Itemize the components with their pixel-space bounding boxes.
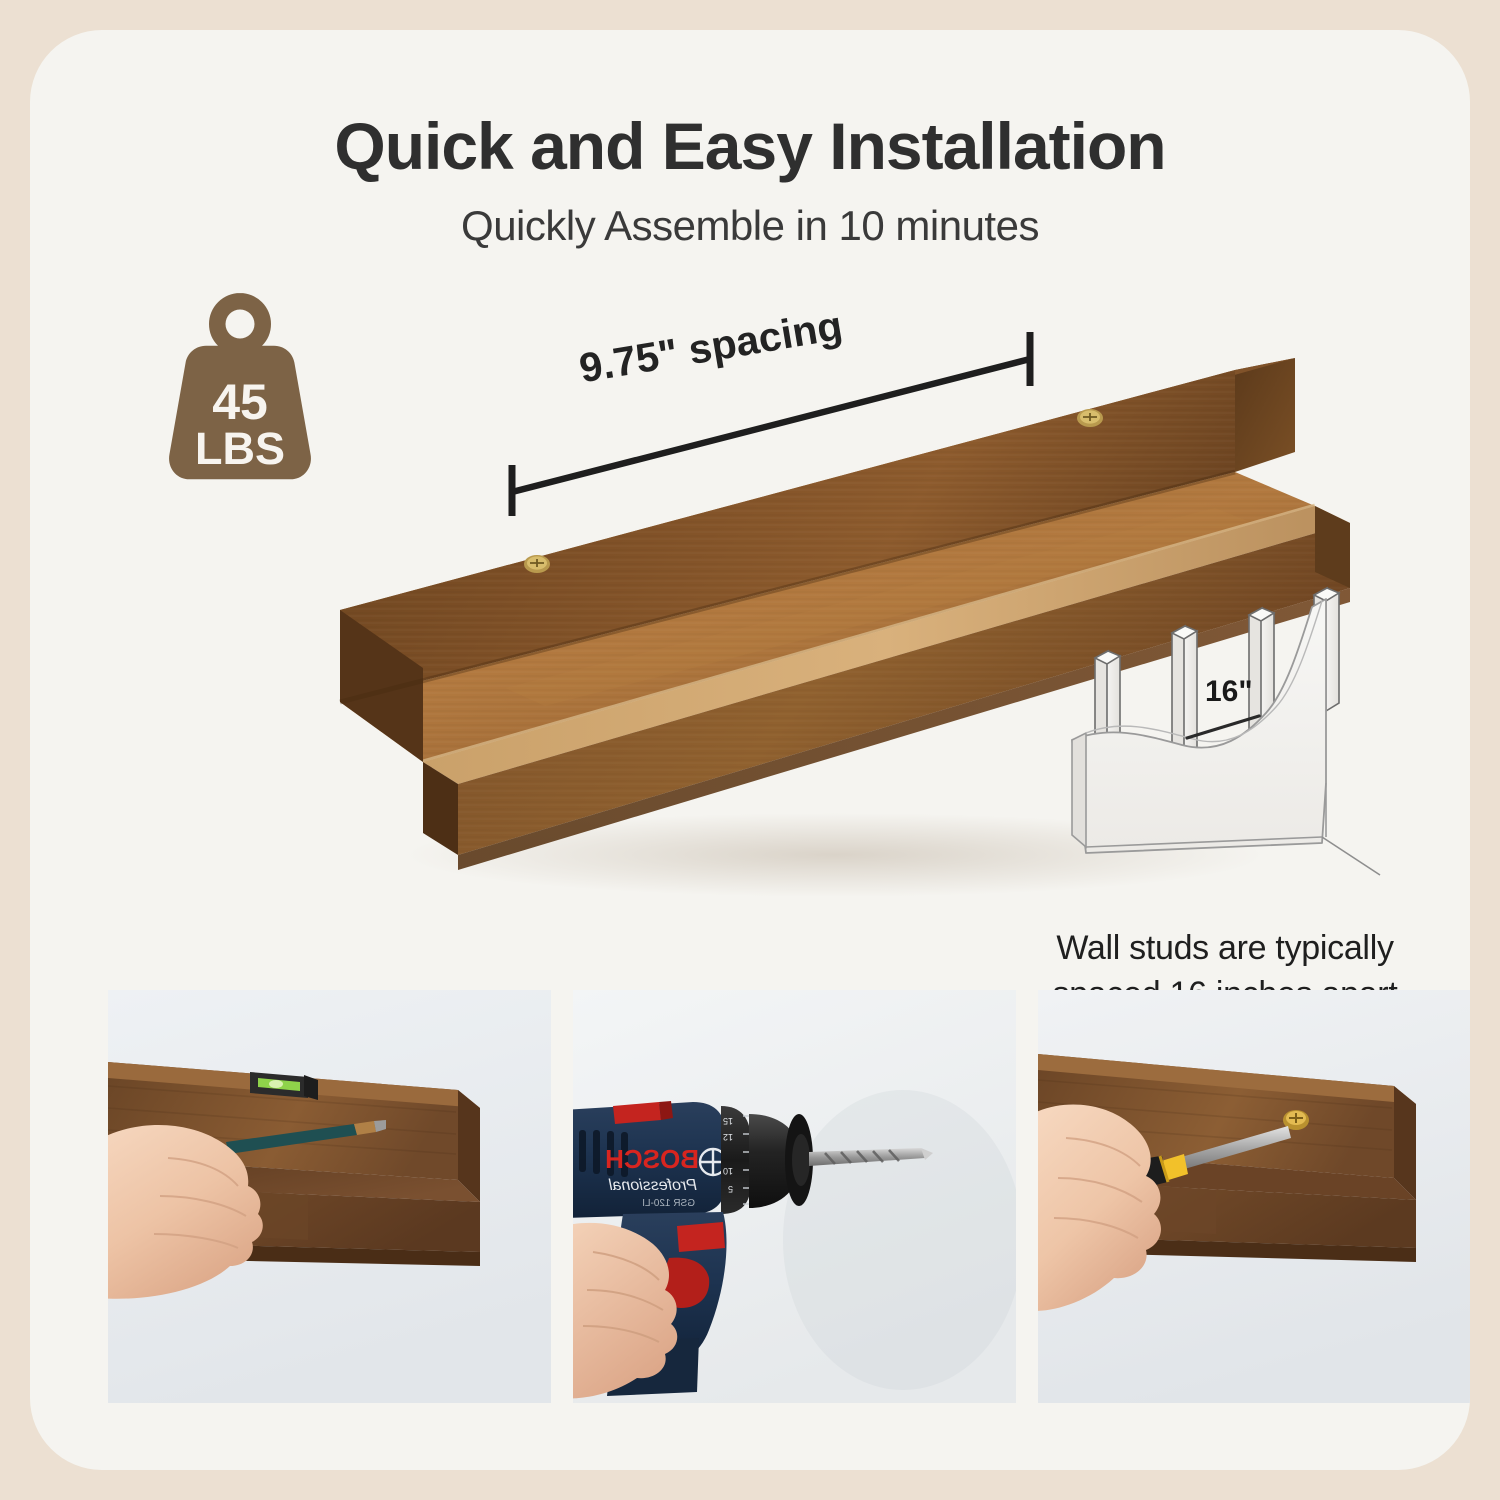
step-mark-wall-photo [108, 990, 551, 1403]
svg-text:12: 12 [723, 1132, 733, 1142]
hand-with-pencil-and-level-icon [108, 990, 551, 1403]
outer-frame: Quick and Easy Installation Quickly Asse… [0, 0, 1500, 1500]
wall-stud-diagram: 16" [1050, 585, 1450, 925]
step-drill-holes-photo: BOSCH Professional GSR 120-LI 15 12 10 [573, 990, 1016, 1403]
svg-text:10: 10 [723, 1166, 733, 1176]
bosch-power-drill-icon: BOSCH Professional GSR 120-LI 15 12 10 [573, 990, 1016, 1403]
stud-caption-line1: Wall studs are typically [1056, 929, 1393, 967]
screw-right [1077, 409, 1103, 427]
wall-studs-icon: 16" [1050, 585, 1450, 925]
bosch-model-label: GSR 120-LI [642, 1198, 695, 1209]
svg-text:15: 15 [723, 1116, 733, 1126]
svg-text:5: 5 [728, 1184, 733, 1194]
installation-steps-gallery: BOSCH Professional GSR 120-LI 15 12 10 [78, 990, 1470, 1405]
bosch-professional-label: Professional [609, 1177, 697, 1194]
bosch-brand-label: BOSCH [605, 1144, 699, 1174]
infographic-card: Quick and Easy Installation Quickly Asse… [30, 30, 1470, 1470]
page-subtitle: Quickly Assemble in 10 minutes [30, 202, 1470, 250]
stud-measure-label: 16" [1205, 675, 1253, 708]
screw-left [524, 555, 550, 573]
step-fasten-screw-photo [1038, 990, 1470, 1403]
page-title: Quick and Easy Installation [30, 108, 1470, 184]
hand-with-screwdriver-icon [1038, 990, 1470, 1403]
